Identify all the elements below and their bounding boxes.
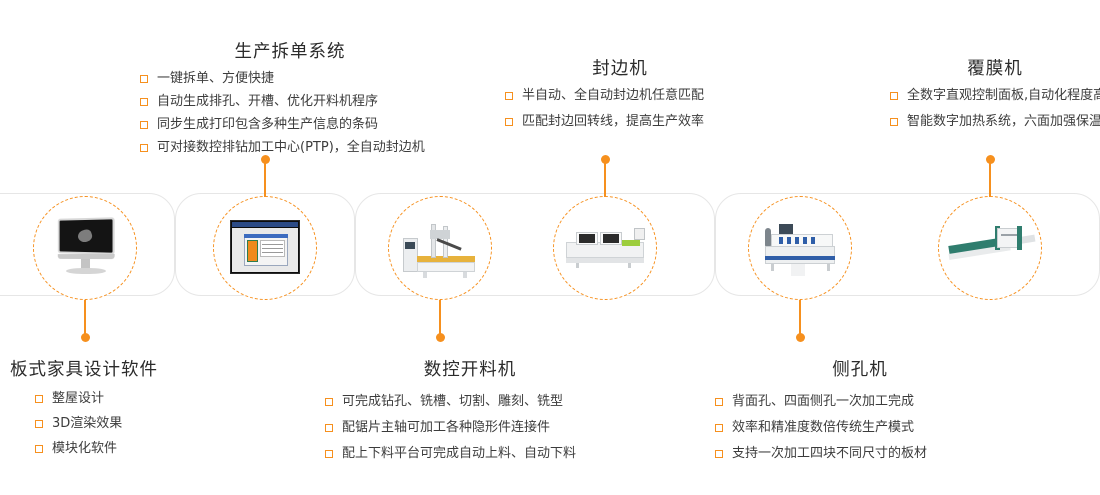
bullet-item: 自动生成排孔、开槽、优化开料机程序 [140,95,440,108]
textblock-edge-banding-machine: 封边机 半自动、全自动封边机任意匹配 匹配封边回转线，提高生产效率 [505,55,735,138]
bullet-list-design-software: 整屋设计 3D渲染效果 模块化软件 [35,392,190,455]
textblock-split-order-system: 生产拆单系统 一键拆单、方便快捷 自动生成排孔、开槽、优化开料机程序 同步生成打… [140,38,440,164]
bullet-item: 支持一次加工四块不同尺寸的板材 [715,447,1005,460]
connector-laminating-machine [989,159,991,197]
node-split-order-system[interactable] [213,196,317,300]
bullet-list-side-hole-machine: 背面孔、四面侧孔一次加工完成 效率和精准度数倍传统生产模式 支持一次加工四块不同… [715,395,1005,460]
bullet-text: 匹配封边回转线，提高生产效率 [522,114,704,129]
section-title-design-software: 板式家具设计软件 [10,356,190,381]
square-bullet-icon [35,395,43,403]
textblock-design-software: 板式家具设计软件 整屋设计 3D渲染效果 模块化软件 [10,356,190,463]
textblock-laminating-machine: 覆膜机 全数字直观控制面板,自动化程度高 智能数字加热系统，六面加强保温 [890,55,1100,138]
bullet-text: 配上下料平台可完成自动上料、自动下料 [342,446,576,461]
bullet-text: 可对接数控排钻加工中心(PTP)，全自动封边机 [157,140,425,155]
bullet-item: 效率和精准度数倍传统生产模式 [715,421,1005,434]
square-bullet-icon [140,75,148,83]
bullet-item: 模块化软件 [35,442,190,455]
bullet-item: 全数字直观控制面板,自动化程度高 [890,89,1100,102]
square-bullet-icon [140,98,148,106]
bullet-item: 半自动、全自动封边机任意匹配 [505,89,735,102]
square-bullet-icon [140,121,148,129]
connector-design-software [84,300,86,338]
bullet-text: 全数字直观控制面板,自动化程度高 [907,88,1100,103]
section-title-cnc-cutting-machine: 数控开料机 [325,356,615,381]
bullet-item: 3D渲染效果 [35,417,190,430]
bullet-item: 一键拆单、方便快捷 [140,72,440,85]
square-bullet-icon [715,424,723,432]
bullet-list-laminating-machine: 全数字直观控制面板,自动化程度高 智能数字加热系统，六面加强保温 [890,89,1100,128]
bullet-text: 效率和精准度数倍传统生产模式 [732,420,914,435]
square-bullet-icon [715,398,723,406]
bullet-text: 一键拆单、方便快捷 [157,71,274,86]
square-bullet-icon [505,92,513,100]
textblock-side-hole-machine: 侧孔机 背面孔、四面侧孔一次加工完成 效率和精准度数倍传统生产模式 支持一次加工… [715,356,1005,470]
node-edge-banding-machine[interactable] [553,196,657,300]
square-bullet-icon [890,118,898,126]
cnc-router-icon [397,216,483,280]
bullet-text: 智能数字加热系统，六面加强保温 [907,114,1100,129]
connector-cnc-cutting-machine [439,300,441,338]
bullet-text: 配锯片主轴可加工各种隐形件连接件 [342,420,550,435]
bullet-text: 模块化软件 [52,441,117,456]
node-cnc-cutting-machine[interactable] [388,196,492,300]
bullet-item: 同步生成打印包含多种生产信息的条码 [140,118,440,131]
bullet-item: 智能数字加热系统，六面加强保温 [890,115,1100,128]
bullet-list-edge-banding-machine: 半自动、全自动封边机任意匹配 匹配封边回转线，提高生产效率 [505,89,735,128]
square-bullet-icon [325,450,333,458]
square-bullet-icon [715,450,723,458]
textblock-cnc-cutting-machine: 数控开料机 可完成钻孔、铣槽、切割、雕刻、铣型 配锯片主轴可加工各种隐形件连接件… [325,356,615,470]
square-bullet-icon [140,144,148,152]
bullet-item: 配锯片主轴可加工各种隐形件连接件 [325,421,615,434]
bullet-text: 3D渲染效果 [52,416,122,431]
bullet-item: 可完成钻孔、铣槽、切割、雕刻、铣型 [325,395,615,408]
section-title-laminating-machine: 覆膜机 [885,55,1100,80]
section-title-edge-banding-machine: 封边机 [505,55,735,80]
imac-computer-icon [42,216,128,280]
connector-split-order-system [264,159,266,197]
node-design-software[interactable] [33,196,137,300]
edge-bander-icon [562,216,648,280]
bullet-list-split-order-system: 一键拆单、方便快捷 自动生成排孔、开槽、优化开料机程序 同步生成打印包含多种生产… [140,72,440,154]
section-title-split-order-system: 生产拆单系统 [140,38,440,63]
bullet-text: 可完成钻孔、铣槽、切割、雕刻、铣型 [342,394,563,409]
bullet-item: 整屋设计 [35,392,190,405]
square-bullet-icon [890,92,898,100]
bullet-text: 背面孔、四面侧孔一次加工完成 [732,394,914,409]
bullet-list-cnc-cutting-machine: 可完成钻孔、铣槽、切割、雕刻、铣型 配锯片主轴可加工各种隐形件连接件 配上下料平… [325,395,615,460]
square-bullet-icon [35,420,43,428]
node-laminating-machine[interactable] [938,196,1042,300]
connector-edge-banding-machine [604,159,606,197]
bullet-item: 背面孔、四面侧孔一次加工完成 [715,395,1005,408]
square-bullet-icon [325,398,333,406]
bullet-item: 可对接数控排钻加工中心(PTP)，全自动封边机 [140,141,440,154]
bullet-text: 半自动、全自动封边机任意匹配 [522,88,704,103]
section-title-side-hole-machine: 侧孔机 [715,356,1005,381]
bullet-text: 支持一次加工四块不同尺寸的板材 [732,446,927,461]
bullet-item: 匹配封边回转线，提高生产效率 [505,115,735,128]
bullet-text: 同步生成打印包含多种生产信息的条码 [157,117,378,132]
infographic-canvas: 生产拆单系统 一键拆单、方便快捷 自动生成排孔、开槽、优化开料机程序 同步生成打… [0,0,1100,495]
side-drill-icon [757,216,843,280]
square-bullet-icon [325,424,333,432]
bullet-item: 配上下料平台可完成自动上料、自动下料 [325,447,615,460]
connector-side-hole-machine [799,300,801,338]
square-bullet-icon [35,445,43,453]
bullet-text: 整屋设计 [52,391,104,406]
laminating-machine-icon [947,216,1033,280]
square-bullet-icon [505,118,513,126]
software-screenshot-icon [222,216,308,280]
node-side-hole-machine[interactable] [748,196,852,300]
bullet-text: 自动生成排孔、开槽、优化开料机程序 [157,94,378,109]
